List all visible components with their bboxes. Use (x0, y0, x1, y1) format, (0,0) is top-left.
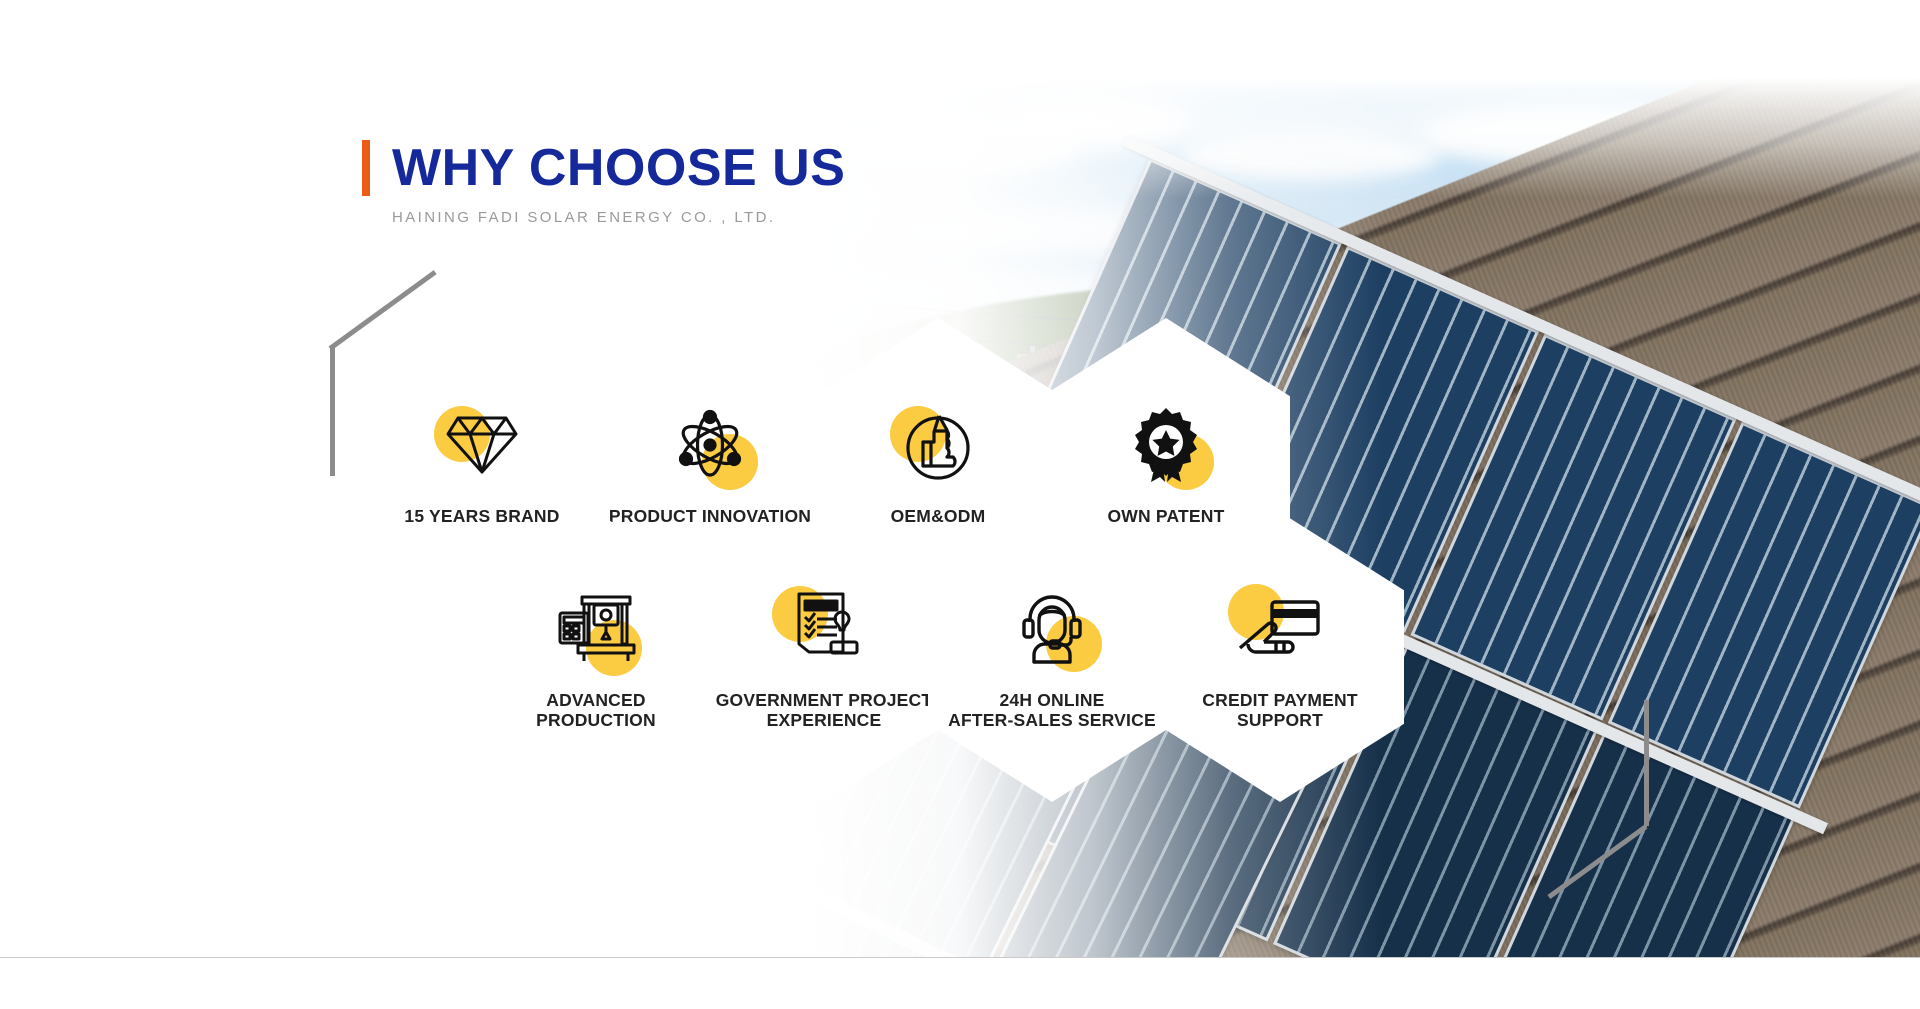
feature-label-line2: AFTER-SALES SERVICE (948, 710, 1156, 730)
diamond-icon (446, 414, 518, 481)
award-ribbon-icon (1131, 407, 1201, 488)
icon-area (1220, 584, 1340, 680)
feature-label-line2: EXPERIENCE (767, 710, 882, 730)
icon-area (1106, 400, 1226, 496)
feature-label: GOVERNMENT PROJECT EXPERIENCE (716, 690, 933, 731)
icon-area (422, 400, 542, 496)
icon-area (650, 400, 770, 496)
headset-support-icon (1014, 592, 1090, 671)
feature-label-line2: PRODUCTION (536, 710, 656, 730)
feature-label: PRODUCT INNOVATION (609, 506, 811, 526)
feature-label: OWN PATENT (1107, 506, 1224, 526)
icon-area (536, 584, 656, 680)
icon-area (878, 400, 998, 496)
feature-label: CREDIT PAYMENT SUPPORT (1202, 690, 1357, 731)
feature-label-line1: CREDIT PAYMENT (1202, 690, 1357, 710)
why-choose-us-section: WHY CHOOSE US HAINING FADI SOLAR ENERGY … (0, 0, 1920, 1009)
feature-hex-grid: 15 YEARS BRAND (0, 0, 1920, 1009)
icon-area (992, 584, 1112, 680)
feature-label-line1: ADVANCED (546, 690, 645, 710)
hand-credit-card-icon (1238, 596, 1322, 667)
footer-divider (0, 957, 1920, 958)
thumbs-up-icon (901, 408, 975, 487)
atom-icon (672, 407, 748, 488)
feature-label-line1: GOVERNMENT PROJECT (716, 690, 933, 710)
feature-label: ADVANCED PRODUCTION (536, 690, 656, 731)
feature-label: 24H ONLINE AFTER-SALES SERVICE (948, 690, 1156, 731)
document-stamp-icon (787, 590, 861, 673)
feature-label: 15 YEARS BRAND (404, 506, 559, 526)
feature-label-line1: 24H ONLINE (999, 690, 1104, 710)
icon-area (764, 584, 884, 680)
cnc-machine-icon (556, 593, 636, 670)
feature-label-line2: SUPPORT (1237, 710, 1323, 730)
feature-label: OEM&ODM (891, 506, 986, 526)
